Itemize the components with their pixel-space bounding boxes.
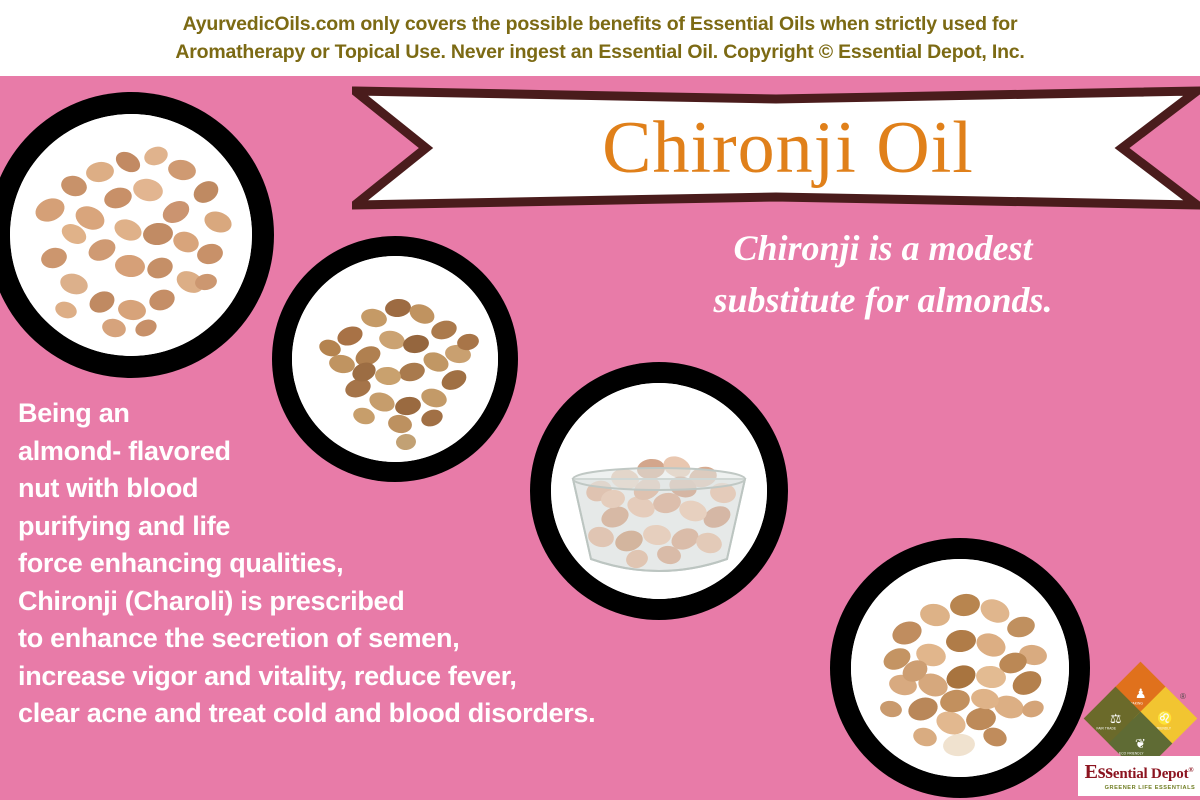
photo-4-image (851, 559, 1069, 777)
registered-mark-icon: ® (1180, 692, 1186, 701)
banner-title: Chironji Oil (352, 86, 1200, 210)
body-line-6: Chironji (Charoli) is prescribed (18, 583, 595, 621)
disclaimer-header: AyurvedicOils.com only covers the possib… (0, 0, 1200, 76)
essential-depot-logo[interactable]: ♟ SOAP MAKING ⚖ FAIR TRADE ♌ ANIMAL FRIE… (1078, 672, 1200, 796)
title-ribbon: Chironji Oil (352, 86, 1200, 210)
balance-scale-caption: FAIR TRADE (1086, 726, 1126, 730)
photo-chironji-nuts-on-white-plate (0, 92, 274, 378)
disclaimer-line-2: Aromatherapy or Topical Use. Never inges… (175, 38, 1024, 66)
logo-brand-e: E (1085, 761, 1098, 783)
photo-chironji-nuts-scattered (830, 538, 1090, 798)
disclaimer-line-1: AyurvedicOils.com only covers the possib… (183, 10, 1018, 38)
logo-brand-rest: ential Depot (1113, 766, 1189, 782)
logo-diamond-group: ♟ SOAP MAKING ⚖ FAIR TRADE ♌ ANIMAL FRIE… (1092, 672, 1188, 768)
body-copy: Being an almond- flavored nut with blood… (18, 395, 595, 733)
body-line-9: clear acne and treat cold and blood diso… (18, 695, 595, 733)
logo-brand-registered: ® (1188, 766, 1193, 774)
photo-1-image (10, 114, 252, 356)
logo-brand-ss: ss (1098, 761, 1113, 783)
logo-brand-name: Essential Depot® (1085, 761, 1194, 784)
nuts-illustration-4 (851, 559, 1069, 777)
leaf-caption: ECO FRIENDLY (1111, 751, 1151, 755)
body-line-5: force enhancing qualities, (18, 545, 595, 583)
balance-scale-glyph: ⚖ (1110, 712, 1122, 725)
infographic-canvas: AyurvedicOils.com only covers the possib… (0, 0, 1200, 800)
soap-mold-glyph: ♟ (1135, 687, 1147, 700)
logo-name-box: Essential Depot® GREENER LIFE ESSENTIALS (1078, 756, 1200, 796)
body-line-4: purifying and life (18, 508, 595, 546)
body-line-1: Being an (18, 395, 595, 433)
body-line-8: increase vigor and vitality, reduce feve… (18, 658, 595, 696)
tagline-line-1: Chironji is a modest (648, 222, 1118, 274)
body-line-7: to enhance the secretion of semen, (18, 620, 595, 658)
leaf-glyph: ❦ (1135, 737, 1146, 750)
body-line-3: nut with blood (18, 470, 595, 508)
logo-tagline: GREENER LIFE ESSENTIALS (1105, 785, 1196, 791)
body-line-2: almond- flavored (18, 433, 595, 471)
tagline: Chironji is a modest substitute for almo… (648, 222, 1118, 326)
animal-glyph: ♌ (1157, 712, 1173, 725)
nuts-illustration-1 (10, 114, 252, 356)
tagline-line-2: substitute for almonds. (648, 274, 1118, 326)
